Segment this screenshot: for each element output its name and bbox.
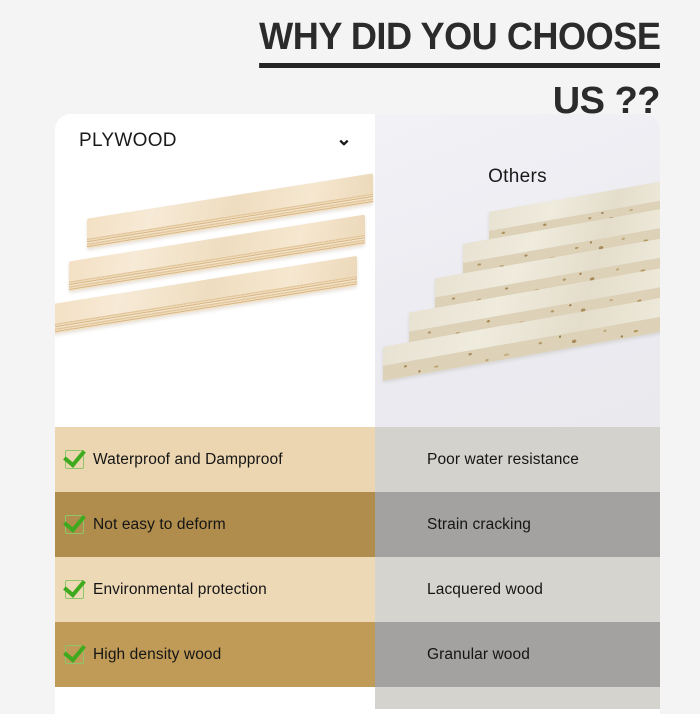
plywood-stack-image: [55, 164, 375, 414]
others-label: Others: [375, 166, 660, 188]
comparison-rows: Waterproof and DampproofPoor water resis…: [55, 427, 660, 709]
others-feature-label: Granular wood: [427, 646, 530, 664]
plywood-feature-cell: Not easy to deform: [55, 492, 375, 557]
plywood-feature-cell: Environmental protection: [55, 557, 375, 622]
others-feature-label: Poor water resistance: [427, 451, 579, 469]
green-checkbox-icon: [65, 515, 84, 534]
others-feature-cell: Granular wood: [375, 622, 660, 687]
page-title-line-1: WHY DID YOU CHOOSE: [259, 18, 660, 68]
plywood-label: PLYWOOD: [79, 130, 177, 152]
others-feature-cell: Lacquered wood: [375, 557, 660, 622]
comparison-row: Waterproof and DampproofPoor water resis…: [55, 427, 660, 492]
comparison-row-partial: [55, 687, 660, 709]
green-checkbox-icon: [65, 450, 84, 469]
plywood-feature-label: Not easy to deform: [93, 516, 226, 534]
plywood-feature-cell: High density wood: [55, 622, 375, 687]
plywood-feature-label: Waterproof and Dampproof: [93, 451, 283, 469]
plywood-photo-panel: PLYWOOD ⌄: [55, 114, 375, 427]
plywood-feature-label: High density wood: [93, 646, 221, 664]
comparison-row: Not easy to deformStrain cracking: [55, 492, 660, 557]
particle-board-stack-image: [381, 196, 660, 426]
others-feature-label: Lacquered wood: [427, 581, 543, 599]
comparison-row: Environmental protectionLacquered wood: [55, 557, 660, 622]
comparison-card: PLYWOOD ⌄ Others Waterproof and Dampproo…: [55, 114, 660, 714]
green-checkbox-icon: [65, 645, 84, 664]
plywood-feature-cell: [55, 687, 375, 709]
green-checkbox-icon: [65, 580, 84, 599]
page-title: WHY DID YOU CHOOSE US ??: [0, 18, 700, 120]
plywood-feature-cell: Waterproof and Dampproof: [55, 427, 375, 492]
product-photos: PLYWOOD ⌄ Others: [55, 114, 660, 427]
plywood-feature-label: Environmental protection: [93, 581, 267, 599]
others-feature-cell: Poor water resistance: [375, 427, 660, 492]
others-feature-label: Strain cracking: [427, 516, 531, 534]
comparison-row: High density woodGranular wood: [55, 622, 660, 687]
others-photo-panel: Others: [375, 114, 660, 427]
others-feature-cell: Strain cracking: [375, 492, 660, 557]
others-feature-cell: [375, 687, 660, 709]
chevron-down-icon[interactable]: ⌄: [336, 130, 352, 149]
